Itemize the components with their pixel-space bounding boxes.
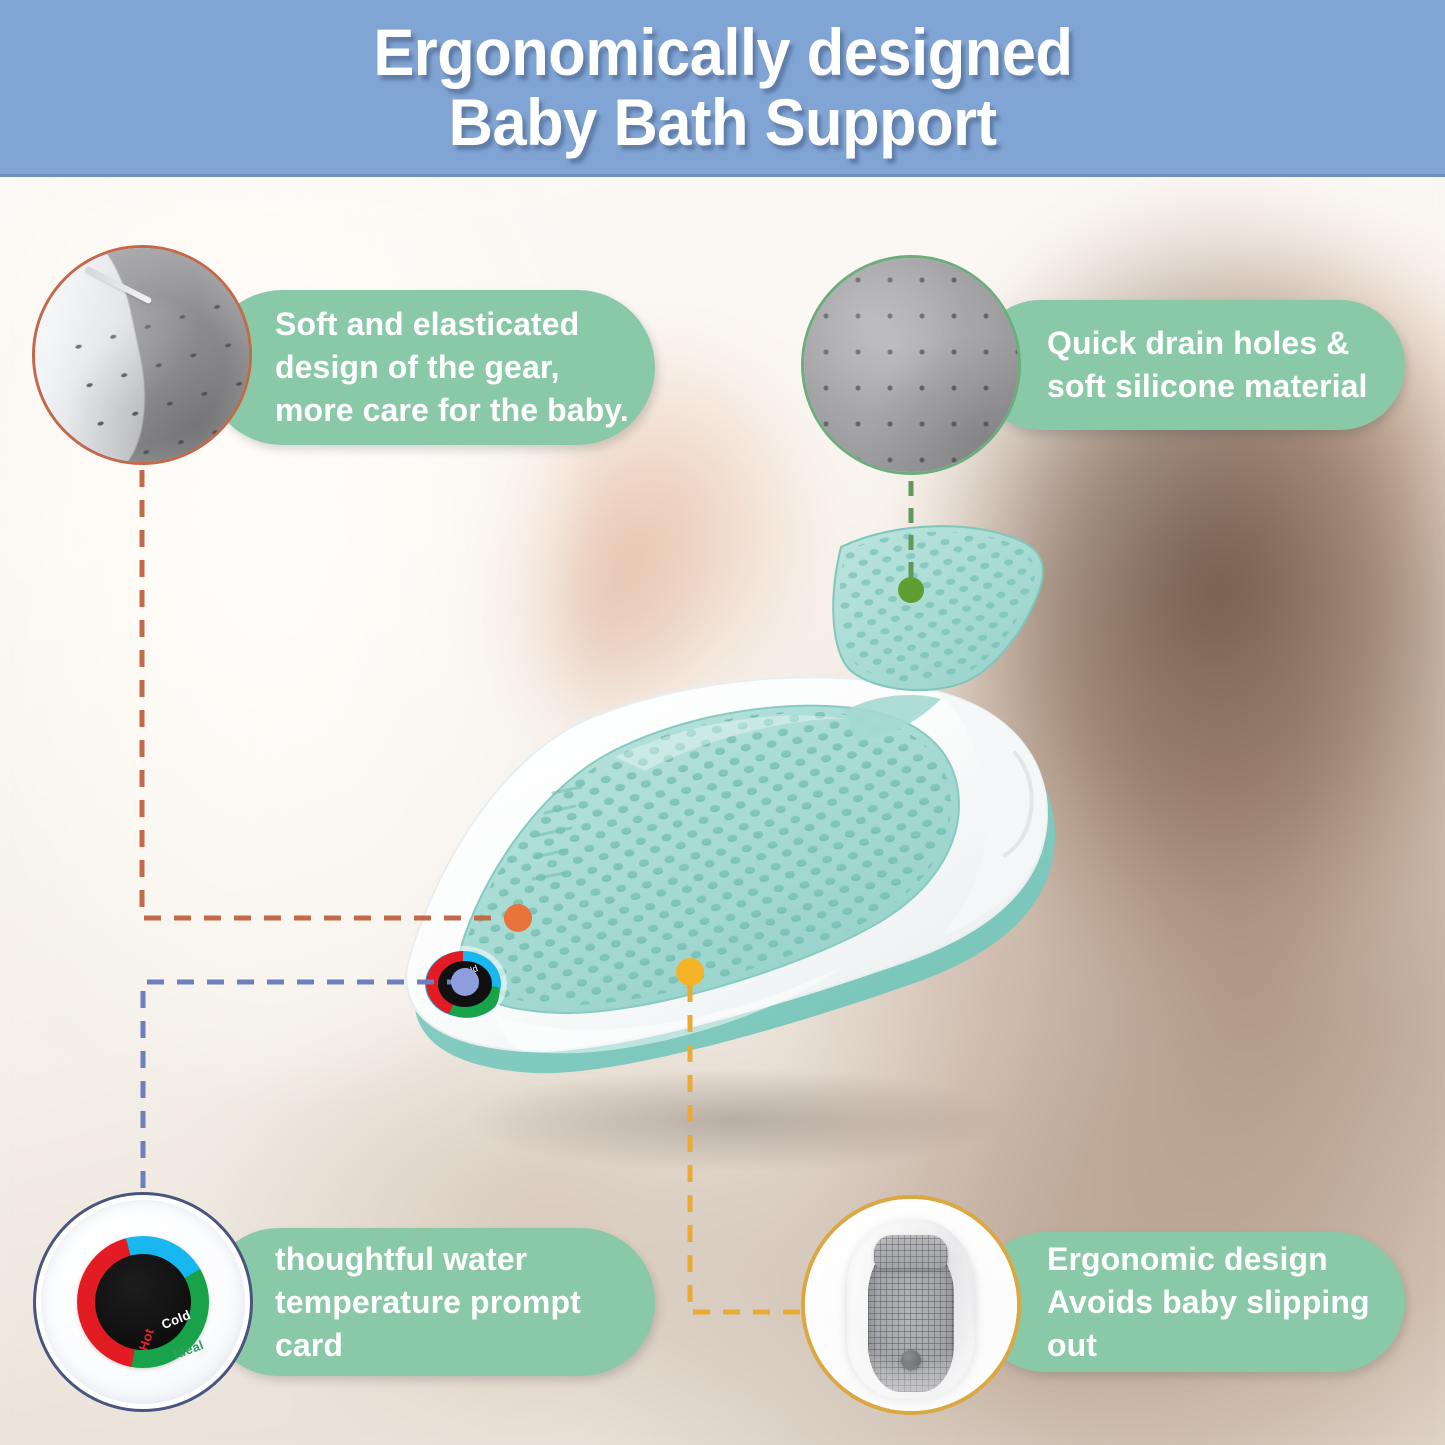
temperature-label-hot: Hot xyxy=(136,1326,157,1352)
callout-text-soft-elasticated: Soft and elasticated design of the gear,… xyxy=(205,303,629,432)
connector-marker-quick-drain-holes xyxy=(898,577,924,603)
infographic-page: Ergonomically designed Baby Bath Support xyxy=(0,0,1445,1445)
connector-line-soft-elasticated xyxy=(142,470,505,918)
callout-circle-soft-elasticated xyxy=(32,245,252,465)
drain-holes-closeup-image xyxy=(804,258,1018,472)
temperature-card-center: Hot Cold Ideal xyxy=(95,1254,191,1350)
callout-circle-ergonomic-design xyxy=(801,1195,1021,1415)
headrest-closeup-image xyxy=(35,248,249,462)
callout-text-water-temperature-card: thoughtful water temperature prompt card xyxy=(205,1238,655,1367)
connector-marker-ergonomic-design xyxy=(676,958,704,986)
callout-pill-quick-drain-holes: Quick drain holes & soft silicone materi… xyxy=(975,300,1405,430)
connector-line-water-temperature-card xyxy=(143,982,465,1188)
connector-marker-soft-elasticated xyxy=(504,904,532,932)
callout-circle-water-temperature-card: Hot Cold Ideal xyxy=(33,1192,253,1412)
connector-line-ergonomic-design xyxy=(690,985,800,1312)
callout-pill-ergonomic-design: Ergonomic design Avoids baby slipping ou… xyxy=(975,1232,1405,1372)
callout-text-quick-drain-holes: Quick drain holes & soft silicone materi… xyxy=(975,322,1368,408)
callout-pill-soft-elasticated: Soft and elasticated design of the gear,… xyxy=(205,290,655,445)
callout-circle-quick-drain-holes xyxy=(801,255,1021,475)
callout-pill-water-temperature-card: thoughtful water temperature prompt card xyxy=(205,1228,655,1376)
callout-text-ergonomic-design: Ergonomic design Avoids baby slipping ou… xyxy=(975,1238,1405,1367)
bath-support-top-view-image xyxy=(805,1199,1017,1411)
temperature-card-image: Hot Cold Ideal xyxy=(36,1195,250,1409)
connector-marker-water-temperature-card xyxy=(451,968,479,996)
